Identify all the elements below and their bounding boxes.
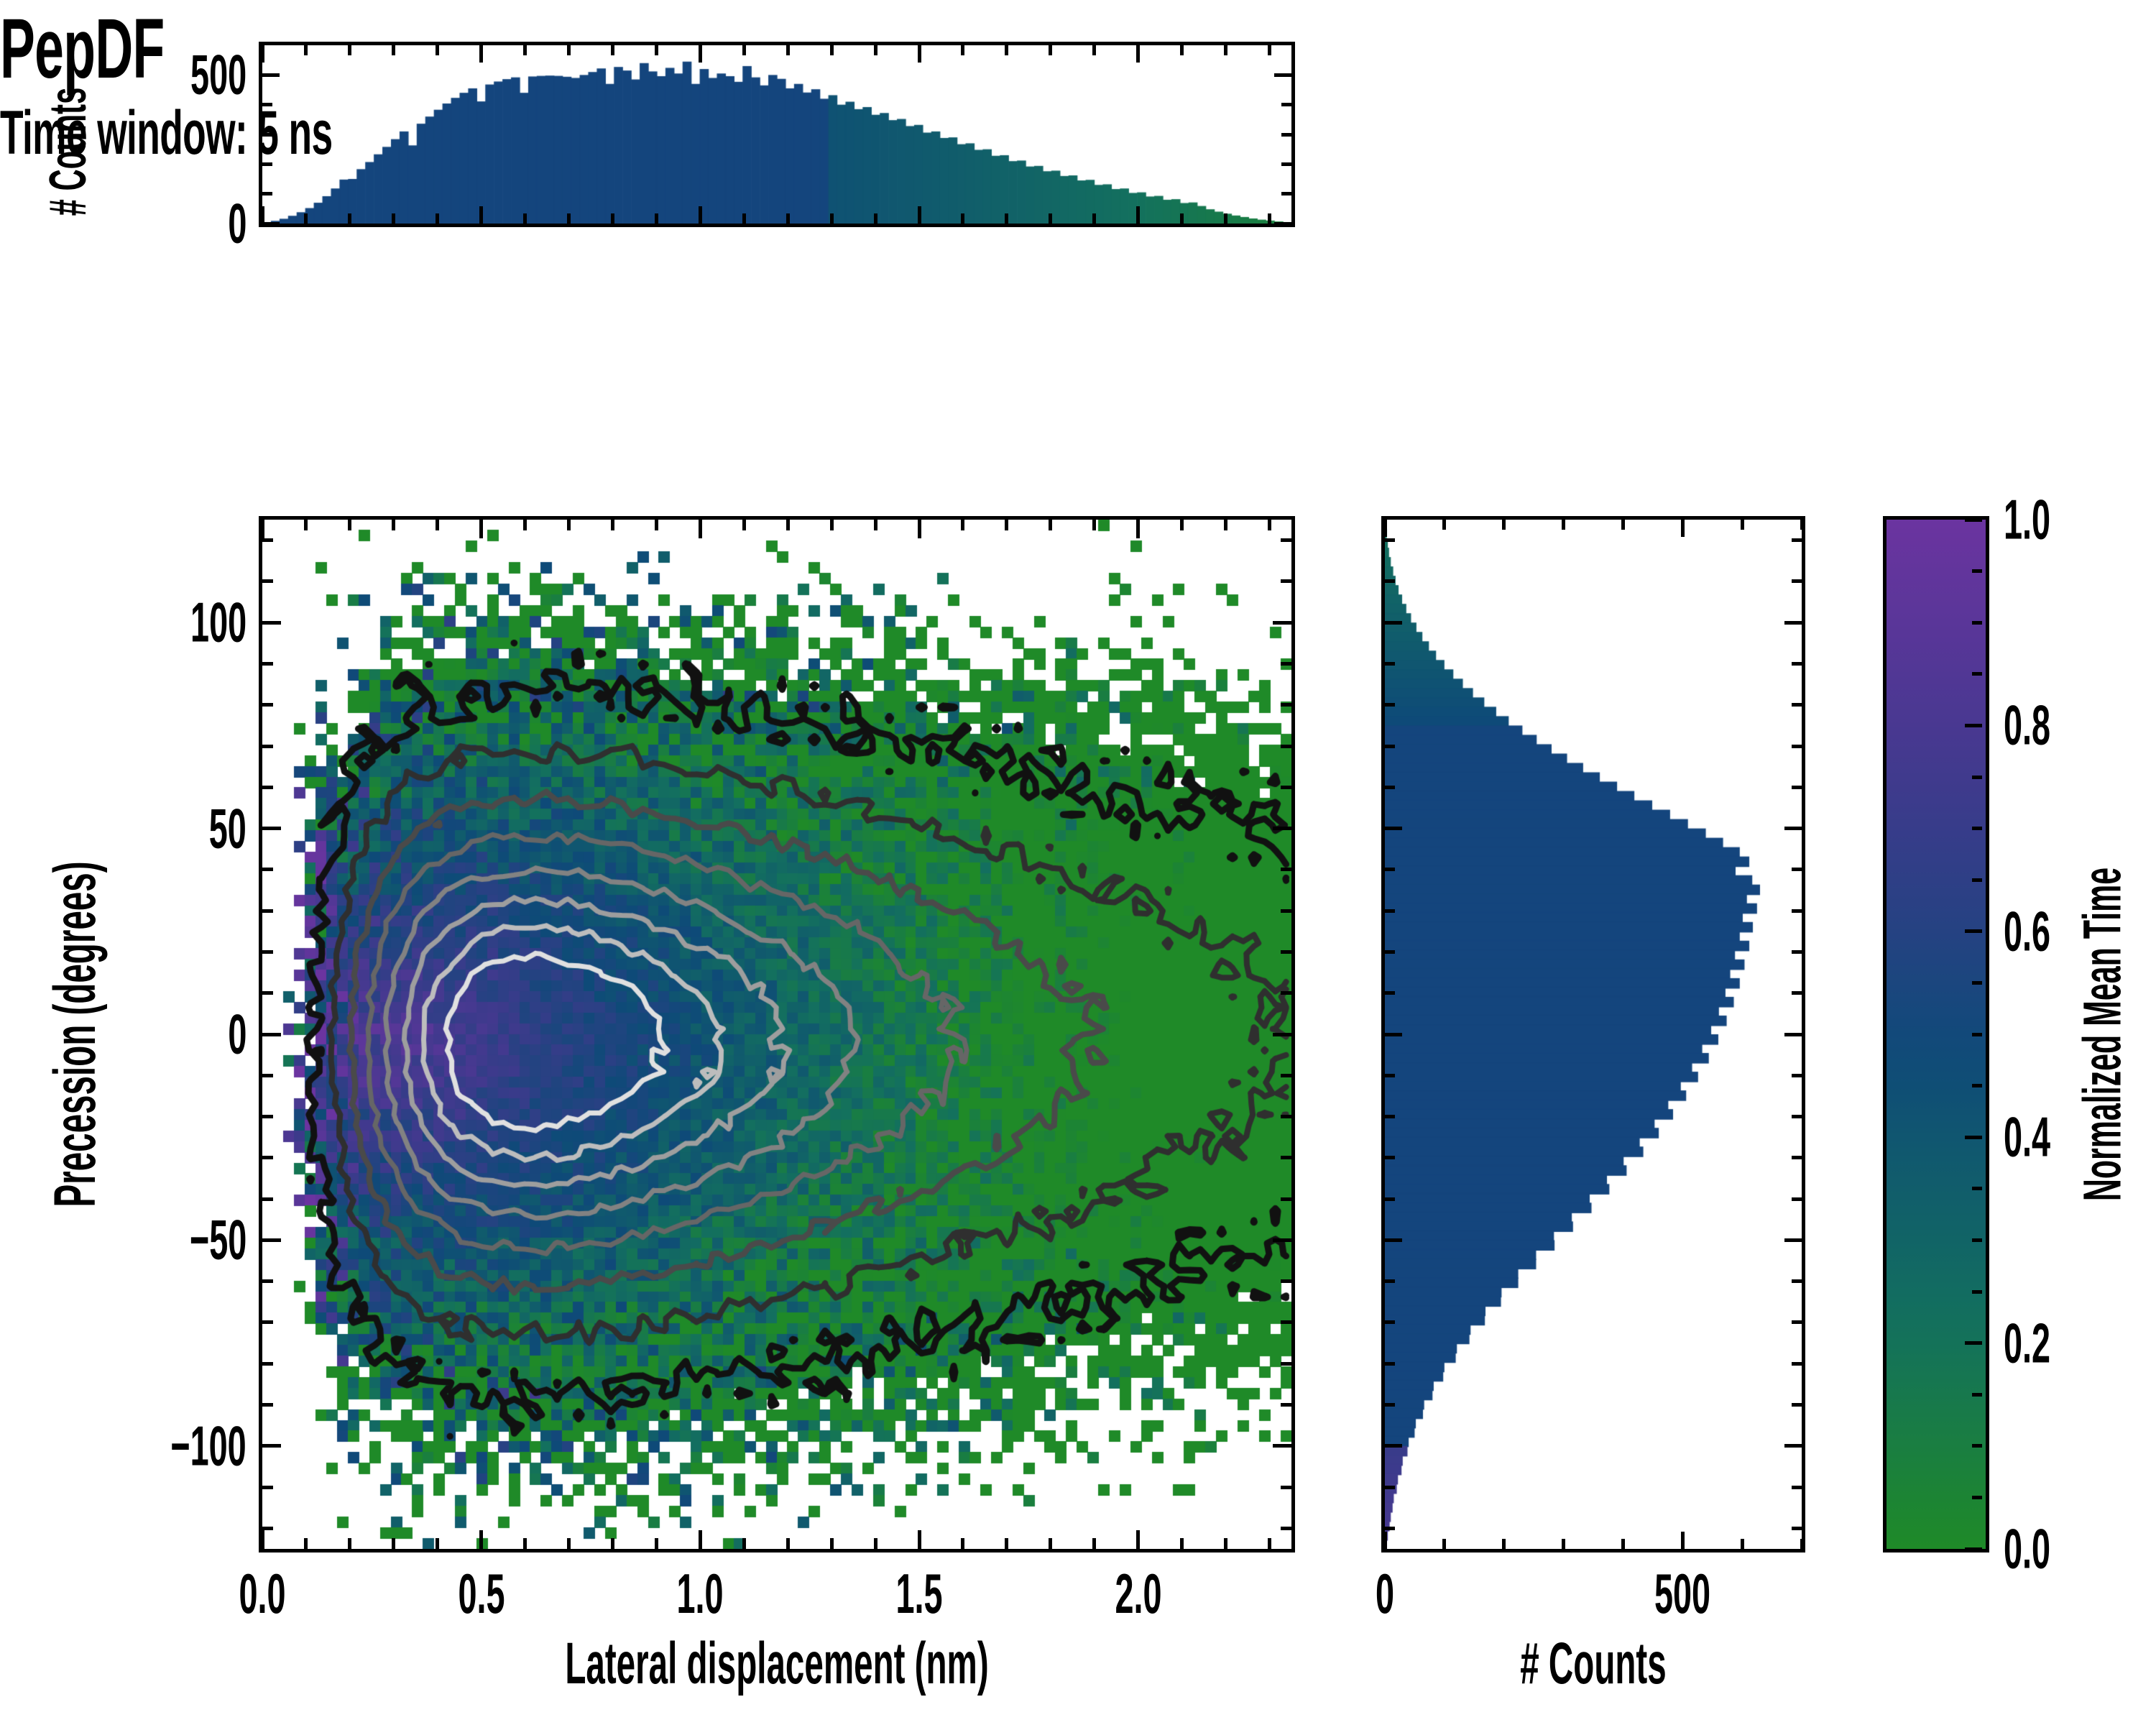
colorbar-tick-label: 0.6 bbox=[2004, 898, 2050, 964]
tick bbox=[1792, 538, 1802, 542]
tick bbox=[655, 213, 658, 224]
main-heatmap-panel bbox=[259, 516, 1295, 1552]
tick bbox=[1502, 520, 1506, 530]
tick bbox=[1792, 1279, 1802, 1283]
tick bbox=[1281, 1486, 1291, 1489]
tick bbox=[1281, 786, 1291, 789]
main-xtick-label: 2.0 bbox=[1115, 1561, 1161, 1627]
tick bbox=[392, 213, 395, 224]
main-ytick-label: −100 bbox=[171, 1413, 247, 1478]
tick bbox=[1442, 520, 1446, 530]
tick bbox=[1972, 1187, 1982, 1190]
tick bbox=[1281, 1115, 1291, 1118]
tick bbox=[1281, 991, 1291, 995]
tick bbox=[1972, 776, 1982, 779]
tick bbox=[262, 1320, 273, 1324]
tick bbox=[786, 213, 790, 224]
tick bbox=[1136, 206, 1140, 224]
tick bbox=[1972, 569, 1982, 573]
tick bbox=[1385, 703, 1395, 707]
tick bbox=[262, 827, 281, 830]
tick bbox=[262, 1156, 273, 1159]
tick bbox=[611, 520, 614, 530]
tick bbox=[1562, 1539, 1565, 1549]
tick bbox=[1442, 1539, 1446, 1549]
tick bbox=[262, 909, 273, 913]
tick bbox=[1792, 1115, 1802, 1118]
tick bbox=[874, 213, 877, 224]
tick bbox=[1965, 929, 1982, 933]
tick bbox=[262, 868, 273, 871]
tick bbox=[262, 621, 281, 625]
main-xtick-label: 0.0 bbox=[239, 1561, 285, 1627]
right-histogram-panel bbox=[1381, 516, 1805, 1552]
tick bbox=[262, 1403, 273, 1407]
tick bbox=[1972, 981, 1982, 985]
tick bbox=[392, 1538, 395, 1549]
tick bbox=[479, 206, 483, 224]
tick bbox=[1792, 1486, 1802, 1489]
tick bbox=[567, 213, 571, 224]
tick bbox=[1224, 520, 1227, 530]
tick bbox=[262, 538, 273, 542]
tick bbox=[523, 213, 527, 224]
tick bbox=[262, 1238, 281, 1242]
tick bbox=[1741, 1539, 1744, 1549]
tick bbox=[1281, 868, 1291, 871]
tick bbox=[1792, 1156, 1802, 1159]
tick bbox=[1273, 1238, 1291, 1242]
tick bbox=[262, 1115, 273, 1118]
tick bbox=[1092, 520, 1096, 530]
colorbar-tick-label: 1.0 bbox=[2004, 487, 2050, 553]
tick bbox=[1281, 1197, 1291, 1201]
tick bbox=[1281, 192, 1291, 195]
tick bbox=[1972, 621, 1982, 625]
tick bbox=[392, 520, 395, 530]
tick bbox=[1784, 1033, 1802, 1036]
tick bbox=[1972, 827, 1982, 830]
tick bbox=[1681, 1532, 1685, 1549]
tick bbox=[262, 991, 273, 995]
tick bbox=[436, 520, 439, 530]
figure-title: PepDF bbox=[0, 0, 1337, 98]
tick bbox=[1972, 878, 1982, 882]
tick bbox=[1972, 1393, 1982, 1397]
tick bbox=[261, 520, 264, 538]
tick bbox=[1562, 520, 1565, 530]
tick bbox=[1972, 672, 1982, 676]
tick bbox=[1281, 1279, 1291, 1283]
tick bbox=[1274, 222, 1291, 226]
tick bbox=[1965, 724, 1982, 727]
tick bbox=[1792, 1527, 1802, 1530]
tick bbox=[262, 192, 272, 195]
tick bbox=[1385, 579, 1395, 583]
tick bbox=[699, 520, 702, 538]
tick bbox=[262, 1486, 273, 1489]
tick bbox=[1385, 1320, 1395, 1324]
tick bbox=[1273, 1444, 1291, 1448]
tick bbox=[1180, 1538, 1184, 1549]
tick bbox=[874, 1538, 877, 1549]
tick bbox=[1792, 1362, 1802, 1366]
tick bbox=[1092, 213, 1096, 224]
tick bbox=[304, 1538, 308, 1549]
tick bbox=[262, 579, 273, 583]
tick bbox=[436, 213, 439, 224]
tick bbox=[262, 1362, 273, 1366]
tick bbox=[1273, 621, 1291, 625]
colorbar-gradient bbox=[1886, 520, 1986, 1549]
tick bbox=[262, 745, 273, 748]
tick bbox=[1281, 1362, 1291, 1366]
tick bbox=[1385, 1074, 1395, 1077]
main-xtick-label: 1.0 bbox=[677, 1561, 724, 1627]
tick bbox=[1281, 538, 1291, 542]
tick bbox=[1005, 1538, 1008, 1549]
tick bbox=[567, 520, 571, 530]
tick bbox=[1800, 1539, 1804, 1549]
tick bbox=[1385, 1362, 1395, 1366]
tick bbox=[262, 1197, 273, 1201]
tick bbox=[786, 520, 790, 530]
tick bbox=[1268, 520, 1271, 530]
main-xtick-label: 0.5 bbox=[458, 1561, 505, 1627]
tick bbox=[1281, 662, 1291, 666]
tick bbox=[1792, 662, 1802, 666]
tick bbox=[1792, 1320, 1802, 1324]
tick bbox=[1136, 520, 1140, 538]
tick bbox=[1049, 520, 1052, 530]
tick bbox=[830, 213, 834, 224]
tick bbox=[262, 222, 280, 226]
tick bbox=[262, 1527, 273, 1530]
tick bbox=[1281, 909, 1291, 913]
tick bbox=[1972, 1444, 1982, 1448]
tick bbox=[304, 520, 308, 530]
figure-subtitle: Time window: 5 ns bbox=[0, 98, 1337, 169]
main-ytick-label: 0 bbox=[228, 1002, 247, 1067]
tick bbox=[479, 1530, 483, 1549]
tick bbox=[742, 1538, 746, 1549]
tick bbox=[918, 1530, 921, 1549]
tick bbox=[1972, 1238, 1982, 1242]
tick bbox=[742, 520, 746, 530]
tick bbox=[1385, 1279, 1395, 1283]
tick bbox=[1385, 621, 1402, 625]
tick bbox=[262, 1074, 273, 1077]
tick bbox=[699, 1530, 702, 1549]
tick bbox=[1385, 868, 1395, 871]
tick bbox=[1092, 1538, 1096, 1549]
tick bbox=[348, 520, 351, 530]
tick bbox=[1281, 1403, 1291, 1407]
tick bbox=[1965, 518, 1982, 522]
tick bbox=[1049, 1538, 1052, 1549]
tick bbox=[1385, 662, 1395, 666]
tick bbox=[1385, 1403, 1395, 1407]
main-xlabel: Lateral displacement (nm) bbox=[565, 1630, 988, 1698]
main-ytick-label: 50 bbox=[209, 796, 247, 861]
tick bbox=[1792, 909, 1802, 913]
tick bbox=[1385, 991, 1395, 995]
tick bbox=[262, 950, 273, 954]
tick bbox=[1792, 1074, 1802, 1077]
tick bbox=[1681, 520, 1685, 537]
tick bbox=[1792, 868, 1802, 871]
tick bbox=[1281, 1527, 1291, 1530]
tick bbox=[261, 1530, 264, 1549]
tick bbox=[742, 213, 746, 224]
tick bbox=[1965, 1547, 1982, 1551]
tick bbox=[1784, 621, 1802, 625]
tick bbox=[1273, 827, 1291, 830]
right-histogram-plot bbox=[1385, 520, 1802, 1549]
tick bbox=[1268, 1538, 1271, 1549]
tick bbox=[918, 206, 921, 224]
figure-canvas: 500 0 # Counts PepDF Time window: 5 ns 0… bbox=[0, 0, 2156, 1725]
tick bbox=[1005, 213, 1008, 224]
tick bbox=[1792, 745, 1802, 748]
tick bbox=[436, 1538, 439, 1549]
tick bbox=[1385, 1527, 1395, 1530]
tick bbox=[1268, 213, 1271, 224]
tick bbox=[1281, 1074, 1291, 1077]
right-xtick-label-0: 0 bbox=[1376, 1561, 1394, 1627]
tick bbox=[1784, 827, 1802, 830]
tick bbox=[1180, 520, 1184, 530]
tick bbox=[1136, 1530, 1140, 1549]
tick bbox=[1383, 520, 1387, 537]
tick bbox=[611, 1538, 614, 1549]
tick bbox=[1385, 950, 1395, 954]
tick bbox=[918, 520, 921, 538]
tick bbox=[1385, 1486, 1395, 1489]
tick bbox=[1281, 703, 1291, 707]
tick bbox=[1741, 520, 1744, 530]
tick bbox=[961, 213, 964, 224]
tick bbox=[1972, 1084, 1982, 1087]
tick bbox=[1005, 520, 1008, 530]
tick bbox=[961, 520, 964, 530]
colorbar-tick-label: 0.2 bbox=[2004, 1310, 2050, 1376]
tick bbox=[1385, 1444, 1402, 1448]
tick bbox=[1385, 909, 1395, 913]
top-ytick-label-0: 0 bbox=[228, 191, 247, 257]
tick bbox=[262, 662, 273, 666]
tick bbox=[1385, 1238, 1402, 1242]
tick bbox=[1792, 786, 1802, 789]
tick bbox=[1792, 950, 1802, 954]
tick bbox=[1621, 520, 1625, 530]
tick bbox=[261, 206, 264, 224]
tick bbox=[523, 520, 527, 530]
tick bbox=[1281, 1320, 1291, 1324]
tick bbox=[1281, 950, 1291, 954]
tick bbox=[1385, 1115, 1395, 1118]
tick bbox=[830, 520, 834, 530]
tick bbox=[655, 520, 658, 530]
tick bbox=[1792, 991, 1802, 995]
tick bbox=[1792, 703, 1802, 707]
tick bbox=[1180, 213, 1184, 224]
tick bbox=[1502, 1539, 1506, 1549]
tick bbox=[262, 786, 273, 789]
tick bbox=[1784, 1238, 1802, 1242]
tick bbox=[348, 1538, 351, 1549]
tick bbox=[1385, 1156, 1395, 1159]
tick bbox=[874, 520, 877, 530]
tick bbox=[1224, 213, 1227, 224]
tick bbox=[830, 1538, 834, 1549]
tick bbox=[1972, 1290, 1982, 1294]
tick bbox=[1972, 1033, 1982, 1036]
tick bbox=[1385, 1197, 1395, 1201]
colorbar-tick-label: 0.8 bbox=[2004, 693, 2050, 758]
colorbar-tick-label: 0.4 bbox=[2004, 1105, 2050, 1170]
tick bbox=[1281, 745, 1291, 748]
tick bbox=[262, 1033, 281, 1036]
tick bbox=[262, 703, 273, 707]
tick bbox=[1792, 579, 1802, 583]
tick bbox=[479, 520, 483, 538]
tick bbox=[1792, 1197, 1802, 1201]
tick bbox=[1385, 827, 1402, 830]
tick bbox=[1965, 1136, 1982, 1139]
tick bbox=[1273, 1033, 1291, 1036]
tick bbox=[1383, 1532, 1387, 1549]
tick bbox=[1385, 786, 1395, 789]
tick bbox=[611, 213, 614, 224]
tick bbox=[1965, 1341, 1982, 1345]
tick bbox=[655, 1538, 658, 1549]
right-xtick-label-500: 500 bbox=[1654, 1561, 1710, 1627]
tick bbox=[1281, 1156, 1291, 1159]
tick bbox=[567, 1538, 571, 1549]
tick bbox=[1281, 579, 1291, 583]
tick bbox=[523, 1538, 527, 1549]
tick bbox=[1049, 213, 1052, 224]
tick bbox=[348, 213, 351, 224]
tick bbox=[1385, 1033, 1402, 1036]
tick bbox=[1800, 520, 1804, 530]
tick bbox=[1792, 1403, 1802, 1407]
tick bbox=[1385, 745, 1395, 748]
tick bbox=[1784, 1444, 1802, 1448]
tick bbox=[961, 1538, 964, 1549]
tick bbox=[1224, 1538, 1227, 1549]
main-heatmap-plot bbox=[262, 520, 1291, 1549]
tick bbox=[1621, 1539, 1625, 1549]
main-ytick-label: −50 bbox=[190, 1207, 247, 1273]
main-xtick-label: 1.5 bbox=[896, 1561, 943, 1627]
main-ytick-label: 100 bbox=[190, 590, 247, 655]
tick bbox=[699, 206, 702, 224]
right-histogram-xlabel: # Counts bbox=[1520, 1630, 1666, 1698]
tick bbox=[262, 1444, 281, 1448]
tick bbox=[1972, 1496, 1982, 1499]
colorbar-tick-label: 0.0 bbox=[2004, 1517, 2050, 1582]
tick bbox=[1385, 538, 1395, 542]
tick bbox=[786, 1538, 790, 1549]
tick bbox=[304, 213, 308, 224]
tick bbox=[262, 1279, 273, 1283]
